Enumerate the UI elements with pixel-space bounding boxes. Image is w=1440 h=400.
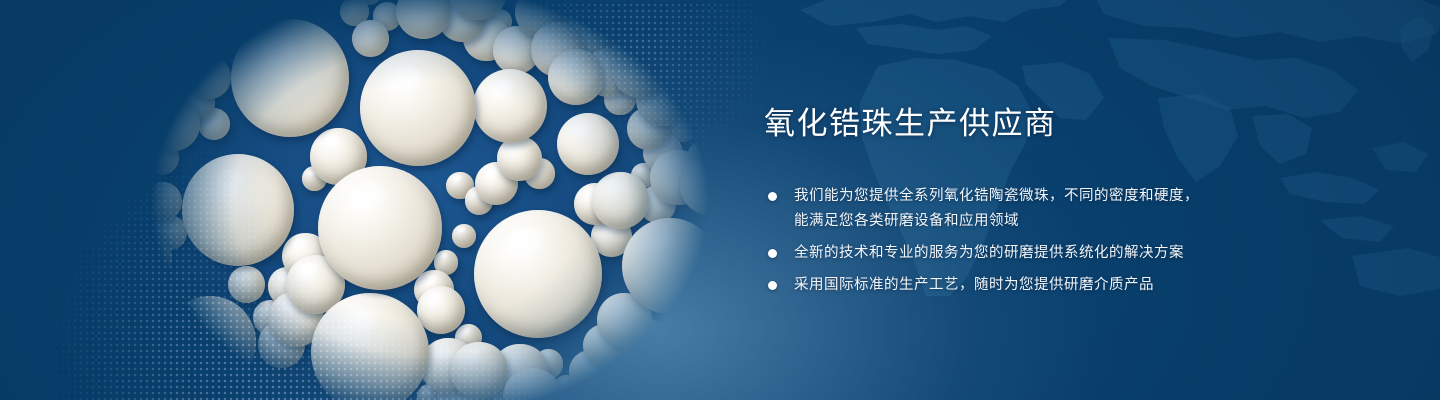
feature-bullet-list: 我们能为您提供全系列氧化锆陶瓷微珠，不同的密度和硬度，能满足您各类研磨设备和应用… xyxy=(764,184,1324,298)
feature-bullet-text-continued: 能满足您各类研磨设备和应用领域 xyxy=(794,209,1324,234)
feature-bullet-item: 全新的技术和专业的服务为您的研磨提供系统化的解决方案 xyxy=(764,241,1324,266)
feature-bullet-text: 采用国际标准的生产工艺，随时为您提供研磨介质产品 xyxy=(794,277,1154,293)
hero-banner: 氧化锆珠生产供应商 我们能为您提供全系列氧化锆陶瓷微珠，不同的密度和硬度，能满足… xyxy=(0,0,1440,400)
banner-copy: 氧化锆珠生产供应商 我们能为您提供全系列氧化锆陶瓷微珠，不同的密度和硬度，能满足… xyxy=(764,106,1324,305)
page-title: 氧化锆珠生产供应商 xyxy=(764,106,1324,142)
bullet-dot-icon xyxy=(768,192,777,201)
feature-bullet-text: 我们能为您提供全系列氧化锆陶瓷微珠，不同的密度和硬度， xyxy=(794,188,1199,204)
feature-bullet-item: 采用国际标准的生产工艺，随时为您提供研磨介质产品 xyxy=(764,273,1324,298)
feature-bullet-text: 全新的技术和专业的服务为您的研磨提供系统化的解决方案 xyxy=(794,245,1184,261)
bullet-dot-icon xyxy=(768,249,777,258)
bullet-dot-icon xyxy=(768,281,777,290)
feature-bullet-item: 我们能为您提供全系列氧化锆陶瓷微珠，不同的密度和硬度，能满足您各类研磨设备和应用… xyxy=(764,184,1324,234)
